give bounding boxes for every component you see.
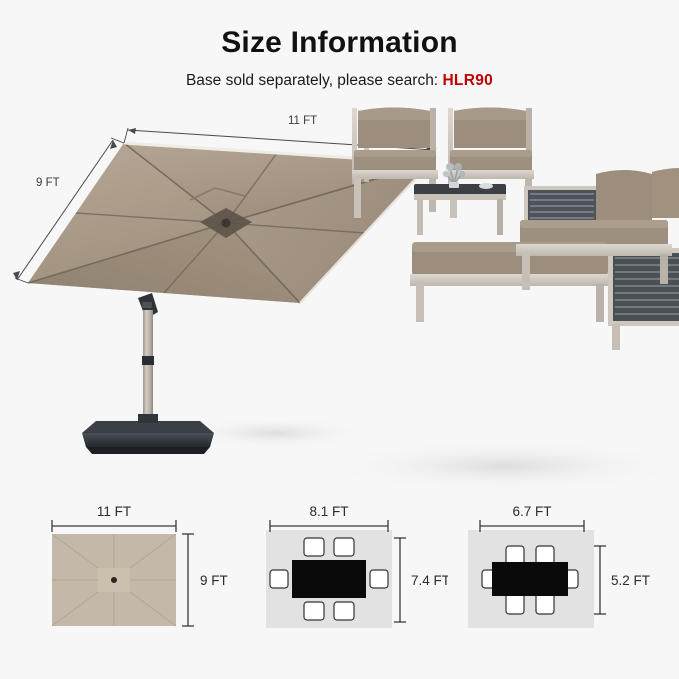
dim-width: 11 FT bbox=[52, 504, 176, 532]
dining-table bbox=[492, 562, 568, 596]
shade-width-label: 8.1 FT bbox=[309, 504, 348, 519]
dim-width: 8.1 FT bbox=[270, 504, 388, 532]
canopy-width-label: 11 FT bbox=[97, 504, 131, 519]
shade-width-label: 6.7 FT bbox=[512, 504, 551, 519]
umbrella-pole-assembly bbox=[82, 293, 214, 454]
dim-width: 6.7 FT bbox=[480, 504, 584, 532]
size-information-infographic: Size Information Base sold separately, p… bbox=[0, 0, 679, 679]
floor-shadow bbox=[320, 440, 679, 488]
chair bbox=[270, 570, 288, 588]
dim-depth: 5.2 FT bbox=[594, 546, 650, 614]
armchair-right bbox=[448, 108, 534, 219]
dim-depth: 9 FT bbox=[182, 534, 228, 626]
shade-depth-label: 5.2 FT bbox=[611, 573, 650, 588]
diagram-shade-area-eight-seat: 6.7 FT 5.2 FT bbox=[450, 500, 660, 660]
chair bbox=[304, 602, 324, 620]
shade-depth-label: 7.4 FT bbox=[411, 573, 448, 588]
hero-depth-label: 9 FT bbox=[36, 177, 60, 189]
canopy-hub-center bbox=[222, 219, 231, 228]
footprint-center-dot bbox=[111, 577, 117, 583]
canopy-footprint-rect bbox=[52, 534, 176, 626]
base-model-code: HLR90 bbox=[442, 72, 493, 89]
size-diagrams: 11 FT bbox=[0, 500, 679, 665]
page-title: Size Information bbox=[0, 26, 679, 60]
hero-width-label: 11 FT bbox=[288, 115, 317, 127]
diagram-shade-area-six-seat: 8.1 FT bbox=[248, 500, 448, 660]
dining-table bbox=[292, 560, 366, 598]
umbrella-base bbox=[82, 414, 214, 454]
pole-collar bbox=[142, 356, 154, 365]
header: Size Information Base sold separately, p… bbox=[0, 0, 679, 90]
sofa-back-cushions bbox=[596, 166, 679, 220]
sofa-rope-arm bbox=[608, 248, 679, 326]
chair bbox=[334, 602, 354, 620]
chair bbox=[370, 570, 388, 588]
chair bbox=[304, 538, 324, 556]
dim-depth: 7.4 FT bbox=[394, 538, 448, 622]
diagram-canopy-footprint: 11 FT bbox=[30, 500, 240, 660]
product-scene: 11 FT 9 FT bbox=[0, 88, 679, 488]
base-note-text: Base sold separately, please search: bbox=[186, 72, 438, 89]
chair bbox=[334, 538, 354, 556]
canopy-depth-label: 9 FT bbox=[200, 573, 228, 588]
